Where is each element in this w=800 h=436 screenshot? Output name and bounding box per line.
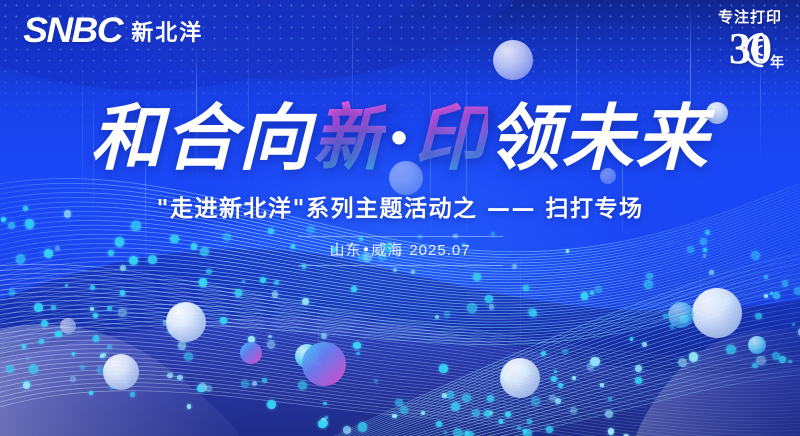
snbc-logo[interactable]: SNBC 新北洋 xyxy=(26,13,203,48)
event-date: 2025.07 xyxy=(409,242,470,259)
title-segment-3: 印 xyxy=(414,95,488,180)
event-banner: SNBC 新北洋 专注打印 30 年 和合向新·印领未来 "走进新北洋"系列主题… xyxy=(0,0,800,436)
event-location: 山东•威海 xyxy=(329,241,403,259)
event-meta-line: 山东•威海2025.07 xyxy=(298,241,503,260)
anniversary-badge: 专注打印 30 年 xyxy=(718,10,782,73)
anniversary-number-row: 30 年 xyxy=(718,27,782,73)
anniversary-unit: 年 xyxy=(770,52,784,72)
page-title: 和合向新·印领未来 xyxy=(0,96,800,180)
logo-brand-chinese: 新北洋 xyxy=(131,15,203,47)
title-segment-2: · xyxy=(386,95,413,180)
event-subtitle: "走进新北洋"系列主题活动之 —— 扫打专场 xyxy=(0,194,800,224)
anniversary-swirl-icon xyxy=(732,30,772,70)
event-meta: 山东•威海2025.07 xyxy=(298,236,503,266)
title-segment-1: 新 xyxy=(312,95,386,180)
title-segment-0: 和合向 xyxy=(90,95,312,180)
title-block: 和合向新·印领未来 "走进新北洋"系列主题活动之 —— 扫打专场 山东•威海20… xyxy=(0,96,800,266)
title-segment-4: 领未来 xyxy=(488,95,710,180)
anniversary-tagline: 专注打印 xyxy=(718,10,782,25)
logo-wordmark: SNBC xyxy=(23,13,122,48)
